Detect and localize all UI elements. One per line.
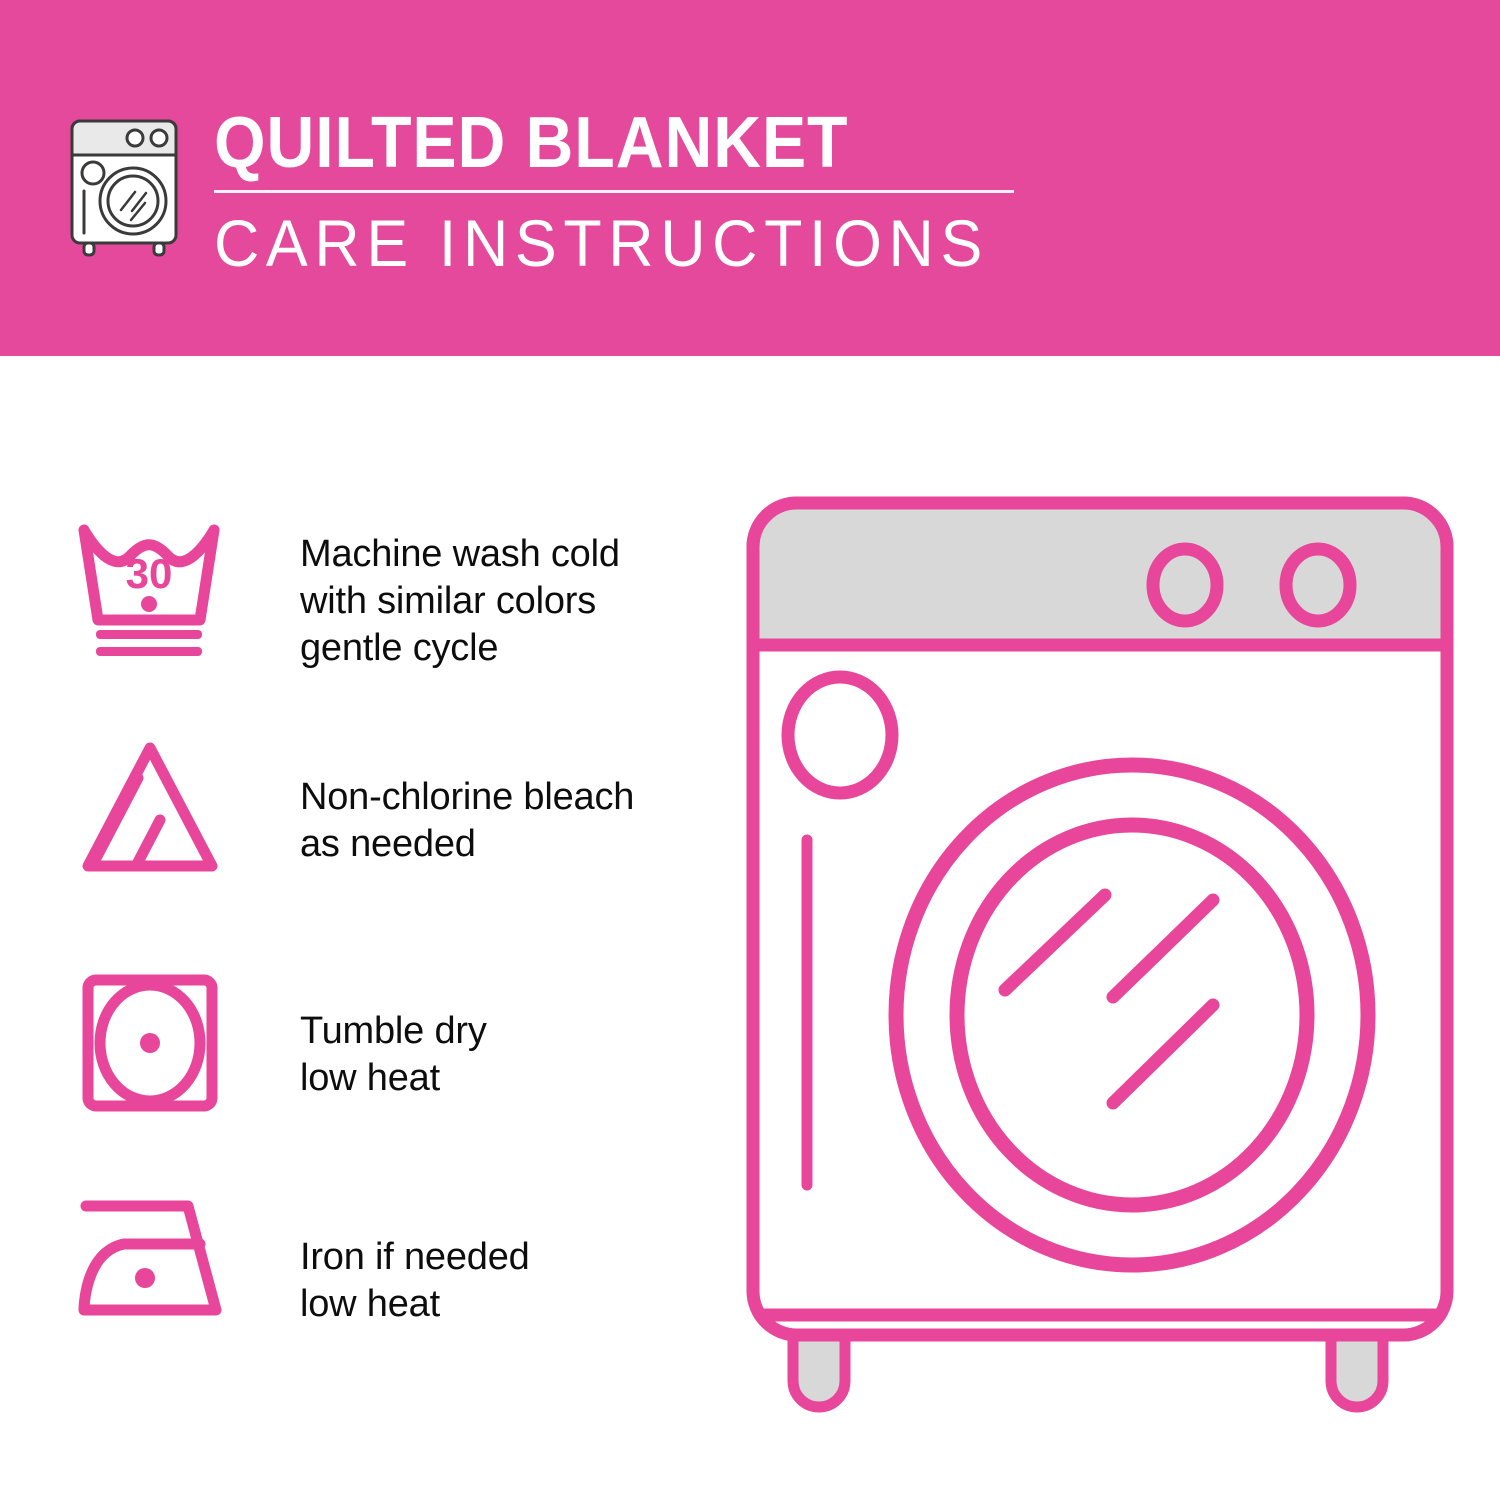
care-text-tumble-dry: Tumble dry low heat bbox=[300, 1008, 487, 1102]
wash-temp-label: 30 bbox=[126, 550, 173, 597]
care-instructions-page: QUILTED BLANKET CARE INSTRUCTIONS 30 Mac… bbox=[0, 0, 1500, 1500]
care-text-bleach: Non-chlorine bleach as needed bbox=[300, 774, 634, 868]
washing-machine-icon bbox=[62, 107, 192, 257]
tumble-dry-low-icon bbox=[72, 968, 242, 1118]
page-title: QUILTED BLANKET bbox=[214, 104, 959, 182]
page-subtitle: CARE INSTRUCTIONS bbox=[214, 207, 984, 279]
header-banner: QUILTED BLANKET CARE INSTRUCTIONS bbox=[0, 0, 1500, 356]
machine-wash-30-icon: 30 bbox=[72, 516, 242, 666]
care-text-iron: Iron if needed low heat bbox=[300, 1234, 530, 1328]
title-divider bbox=[214, 190, 1014, 193]
non-chlorine-bleach-icon bbox=[72, 734, 242, 884]
header-text-block: QUILTED BLANKET CARE INSTRUCTIONS bbox=[214, 104, 1024, 279]
iron-low-heat-icon bbox=[72, 1186, 242, 1336]
washing-machine-illustration bbox=[735, 485, 1465, 1415]
care-text-machine-wash: Machine wash cold with similar colors ge… bbox=[300, 531, 620, 672]
care-instruction-list: 30 Machine wash cold with similar colors… bbox=[0, 356, 720, 1500]
